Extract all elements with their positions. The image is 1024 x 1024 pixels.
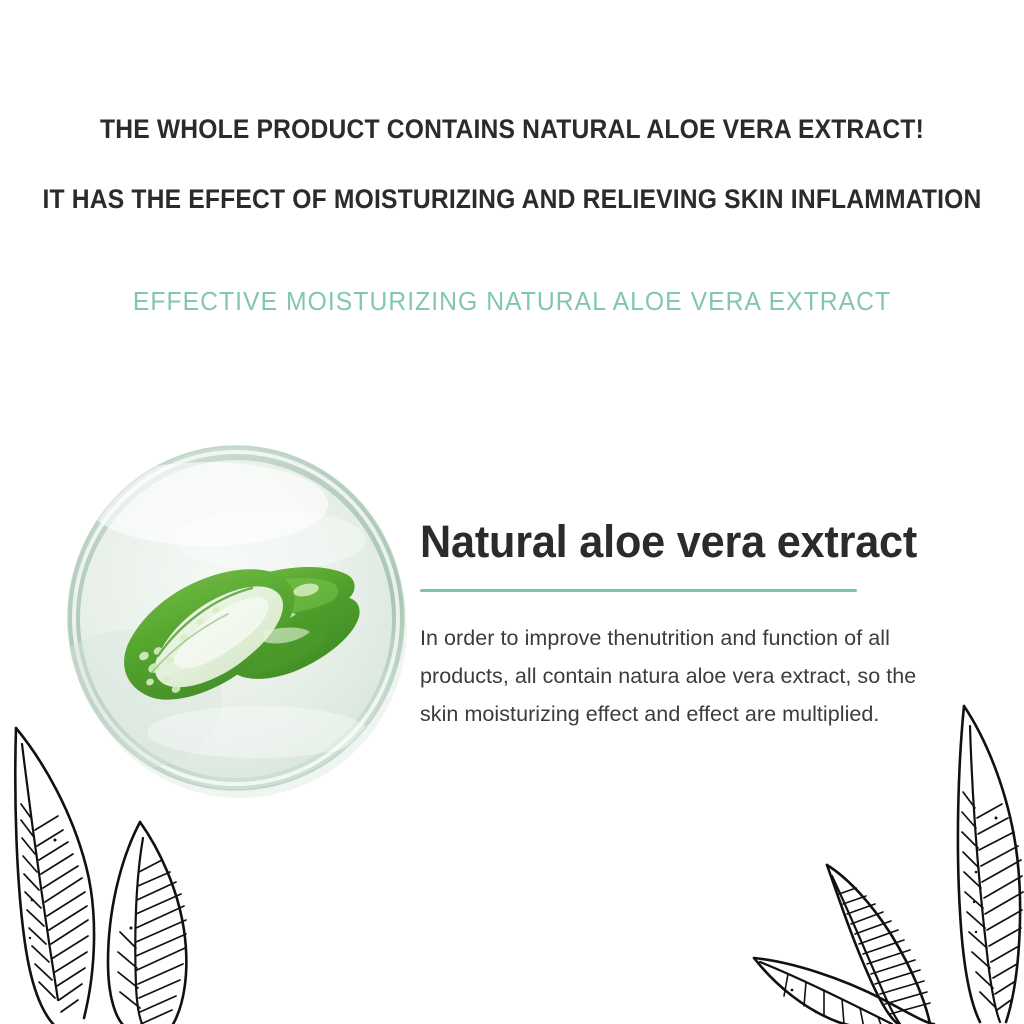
product-image [58, 432, 414, 804]
leaf-tall-right [958, 706, 1020, 1022]
leaf-tall-speckles [973, 817, 998, 934]
leaf-speckles [29, 839, 57, 940]
leaf-veins-left [21, 804, 55, 998]
feature-title: Natural aloe vera extract [420, 516, 958, 568]
leaf-low-speckles [791, 989, 818, 1014]
leaf-low-veins [784, 974, 883, 1024]
leaf-hatching-right [35, 816, 88, 1012]
feature-text-block: Natural aloe vera extract In order to im… [420, 516, 980, 733]
leaf-low-horizontal [754, 958, 934, 1024]
headline-primary: THE WHOLE PRODUCT CONTAINS NATURAL ALOE … [36, 112, 988, 146]
leaf-second-veins [118, 932, 140, 1008]
leaf-illustration-right-svg [744, 690, 1024, 1024]
leaf-second [108, 822, 186, 1024]
leaf-angled-hatching [839, 888, 930, 1014]
leaf-angled-hatched [827, 865, 930, 1024]
leaf-tall-hatching [977, 804, 1023, 1010]
subtitle-tagline: EFFECTIVE MOISTURIZING NATURAL ALOE VERA… [26, 286, 999, 317]
dish-gloss-secondary [174, 510, 366, 570]
leaf-second-speckle [130, 927, 133, 930]
feature-description: In order to improve thenutrition and fun… [420, 619, 940, 733]
headline-secondary: IT HAS THE EFFECT OF MOISTURIZING AND RE… [36, 182, 988, 216]
decor-leaves-right [744, 690, 1024, 1024]
title-divider [420, 589, 857, 592]
leaf-tall-veins [962, 792, 996, 1008]
leaf-second-hatching [136, 860, 186, 1024]
promo-banner: THE WHOLE PRODUCT CONTAINS NATURAL ALOE … [0, 0, 1024, 1024]
leaf-left-edge [15, 728, 60, 1024]
dish-gloss-bottom [148, 706, 368, 758]
aloe-dish-svg [58, 432, 414, 804]
leaf-midrib [22, 744, 58, 1000]
headline-block: THE WHOLE PRODUCT CONTAINS NATURAL ALOE … [0, 112, 1024, 216]
